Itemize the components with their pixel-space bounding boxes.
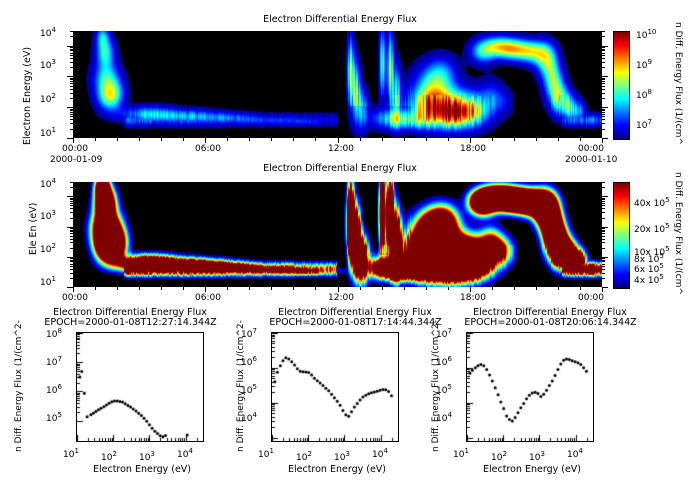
axis-tick: [205, 138, 206, 143]
sp1-ytick-7: 107: [46, 355, 62, 368]
sp1-xtick-3: 103: [139, 450, 155, 463]
axis-tick: [602, 231, 605, 232]
middle-spectrogram-plot[interactable]: [73, 182, 602, 287]
axis-tick: [602, 58, 605, 59]
top-panel-ylabel: Electron Energy (eV): [22, 47, 33, 145]
middle-colorbar-label: n Diff. Energy Flux (1/(cm^: [673, 172, 683, 295]
axis-tick: [67, 257, 73, 258]
axis-tick: [70, 50, 73, 51]
axis-tick: [602, 47, 605, 48]
axis-tick: [602, 79, 605, 80]
axis-tick: [602, 78, 605, 79]
axis-tick: [70, 49, 73, 50]
sp2-ytick-4: 104: [241, 411, 257, 424]
axis-tick: [602, 62, 605, 63]
axis-tick: [580, 138, 581, 141]
top-cbar-tick-9: 109: [636, 58, 652, 71]
axis-tick: [602, 230, 605, 231]
mid-xtick-1: 06:00: [195, 293, 221, 303]
axis-tick: [602, 89, 605, 90]
sp3-xtick-1: 101: [453, 447, 469, 460]
sp3-ytick-5: 105: [436, 383, 452, 396]
axis-tick: [514, 138, 515, 141]
middle-panel-ylabel: Ele En (eV): [28, 203, 39, 255]
axis-tick: [536, 287, 537, 290]
mid-xtick-3: 18:00: [460, 293, 486, 303]
spectrum-2-epoch: EPOCH=2000-01-08T17:14:44.344Z: [253, 317, 458, 328]
axis-tick: [602, 233, 605, 234]
axis-tick: [602, 205, 605, 206]
top-ytick-4: 104: [40, 26, 56, 39]
axis-tick: [67, 76, 73, 77]
axis-tick: [293, 138, 294, 141]
sp1-xtick-1: 101: [63, 447, 79, 460]
mid-xtick-4: 00:00: [578, 293, 604, 303]
axis-tick: [602, 261, 605, 262]
axis-tick: [70, 242, 73, 243]
mid-cbar-tick-40: 40x 105: [634, 196, 670, 209]
axis-tick: [492, 287, 493, 290]
axis-tick: [602, 112, 605, 113]
mid-cbar-tick-4: 4x 105: [634, 273, 664, 286]
axis-tick: [404, 138, 405, 141]
axis-tick: [70, 230, 73, 231]
axis-tick: [602, 239, 605, 240]
axis-tick: [602, 227, 608, 228]
axis-tick: [360, 138, 361, 141]
axis-tick: [70, 239, 73, 240]
sp2-ytick-5: 105: [241, 383, 257, 396]
axis-tick: [95, 287, 96, 290]
axis-tick: [602, 196, 608, 197]
top-cbar-tick-8: 108: [636, 88, 652, 101]
axis-tick: [602, 258, 605, 259]
axis-tick: [70, 79, 73, 80]
axis-tick: [70, 129, 73, 130]
axis-tick: [70, 36, 73, 37]
axis-tick: [602, 138, 603, 143]
axis-tick: [315, 138, 316, 141]
axis-tick: [602, 182, 605, 183]
axis-tick: [70, 203, 73, 204]
axis-tick: [602, 81, 605, 82]
axis-tick: [70, 248, 73, 249]
axis-tick: [70, 261, 73, 262]
axis-tick: [70, 269, 73, 270]
sp2-xtick-1: 101: [258, 447, 274, 460]
spectrum-3-plot[interactable]: [466, 332, 594, 442]
axis-tick: [70, 187, 73, 188]
spectrum-2-plot[interactable]: [271, 332, 399, 442]
axis-tick: [70, 78, 73, 79]
axis-tick: [602, 273, 605, 274]
mid-ytick-3: 103: [40, 209, 56, 222]
axis-tick: [602, 278, 605, 279]
axis-tick: [67, 196, 73, 197]
axis-tick: [602, 257, 608, 258]
axis-tick: [139, 138, 140, 141]
axis-tick: [602, 86, 605, 87]
axis-tick: [426, 138, 427, 141]
axis-tick: [70, 55, 73, 56]
axis-tick: [602, 212, 605, 213]
spectrum-2-xlabel: Electron Energy (eV): [257, 464, 417, 475]
axis-tick: [67, 46, 73, 47]
axis-tick: [139, 287, 140, 290]
axis-tick: [70, 89, 73, 90]
axis-tick: [70, 93, 73, 94]
axis-tick: [338, 287, 339, 292]
sp2-xtick-2: 102: [296, 450, 312, 463]
axis-tick: [70, 53, 73, 54]
axis-tick: [602, 46, 608, 47]
sp3-ytick-4: 104: [436, 411, 452, 424]
axis-tick: [602, 129, 605, 130]
top-xdate-right: 2000-01-10: [565, 155, 617, 165]
axis-tick: [183, 287, 184, 290]
sp1-ytick-5: 105: [46, 411, 62, 424]
axis-tick: [70, 123, 73, 124]
axis-tick: [70, 114, 73, 115]
top-colorbar-label: n Diff. Energy Flux (1/(cm^: [673, 22, 683, 145]
axis-tick: [70, 258, 73, 259]
axis-tick: [602, 116, 605, 117]
axis-tick: [95, 138, 96, 141]
top-xtick-4: 00:00: [578, 144, 604, 154]
sp3-xtick-3: 103: [529, 450, 545, 463]
axis-tick: [602, 107, 608, 108]
axis-tick: [602, 83, 605, 84]
axis-tick: [117, 138, 118, 141]
axis-tick: [70, 98, 73, 99]
spectrum-1-ylabel: n Diff. Energy Flux (1/(cm^2-: [14, 320, 24, 452]
axis-tick: [602, 53, 605, 54]
axis-tick: [602, 260, 605, 261]
axis-tick: [271, 138, 272, 141]
axis-tick: [602, 98, 605, 99]
axis-tick: [558, 287, 559, 290]
sp3-ytick-7: 107: [436, 327, 452, 340]
axis-tick: [70, 62, 73, 63]
axis-tick: [315, 287, 316, 290]
axis-tick: [70, 47, 73, 48]
axis-tick: [70, 266, 73, 267]
axis-tick: [70, 205, 73, 206]
axis-tick: [602, 93, 605, 94]
axis-tick: [448, 138, 449, 141]
middle-panel-title: Electron Differential Energy Flux: [150, 163, 530, 174]
axis-tick: [602, 187, 605, 188]
mid-xtick-2: 12:00: [328, 293, 354, 303]
axis-tick: [602, 123, 605, 124]
axis-tick: [602, 264, 605, 265]
axis-tick: [70, 212, 73, 213]
axis-tick: [70, 236, 73, 237]
axis-tick: [338, 138, 339, 143]
axis-tick: [70, 231, 73, 232]
spectrum-1-xlabel: Electron Energy (eV): [62, 464, 222, 475]
axis-tick: [602, 198, 605, 199]
sp3-ytick-6: 106: [436, 355, 452, 368]
sp3-xtick-4: 104: [567, 447, 583, 460]
top-xdate-left: 2000-01-09: [50, 155, 102, 165]
sp1-xtick-4: 104: [177, 447, 193, 460]
axis-tick: [70, 31, 73, 32]
axis-tick: [67, 227, 73, 228]
axis-tick: [227, 287, 228, 290]
axis-tick: [70, 110, 73, 111]
axis-tick: [602, 199, 605, 200]
mid-ytick-4: 104: [40, 177, 56, 190]
mid-ytick-2: 102: [40, 242, 56, 255]
axis-tick: [602, 287, 603, 292]
axis-tick: [70, 109, 73, 110]
axis-tick: [470, 138, 471, 143]
sp1-xtick-2: 102: [101, 450, 117, 463]
axis-tick: [70, 273, 73, 274]
axis-tick: [205, 287, 206, 292]
axis-tick: [602, 248, 605, 249]
spectrum-1-plot[interactable]: [76, 332, 204, 442]
axis-tick: [70, 83, 73, 84]
axis-tick: [580, 287, 581, 290]
axis-tick: [492, 138, 493, 141]
top-xtick-1: 06:00: [195, 144, 221, 154]
sp2-ytick-6: 106: [241, 355, 257, 368]
axis-tick: [70, 198, 73, 199]
sp2-xtick-3: 103: [334, 450, 350, 463]
axis-tick: [602, 218, 605, 219]
top-cbar-tick-7: 107: [636, 118, 652, 131]
axis-tick: [382, 287, 383, 290]
axis-tick: [558, 138, 559, 141]
axis-tick: [602, 76, 608, 77]
sp2-ytick-7: 107: [241, 327, 257, 340]
axis-tick: [161, 287, 162, 290]
axis-tick: [602, 208, 605, 209]
axis-tick: [70, 112, 73, 113]
top-ytick-1: 101: [40, 126, 56, 139]
axis-tick: [602, 114, 605, 115]
axis-tick: [70, 208, 73, 209]
top-xtick-3: 18:00: [460, 144, 486, 154]
axis-tick: [602, 203, 605, 204]
axis-tick: [602, 119, 605, 120]
mid-cbar-tick-20: 20x 105: [634, 222, 670, 235]
axis-tick: [602, 201, 605, 202]
axis-tick: [70, 260, 73, 261]
axis-tick: [271, 287, 272, 290]
sp3-xtick-2: 102: [491, 450, 507, 463]
axis-tick: [602, 269, 605, 270]
axis-tick: [70, 278, 73, 279]
axis-tick: [70, 264, 73, 265]
axis-tick: [70, 58, 73, 59]
axis-tick: [183, 138, 184, 141]
axis-tick: [70, 218, 73, 219]
top-xtick-2: 12:00: [328, 144, 354, 154]
axis-tick: [602, 31, 605, 32]
axis-tick: [514, 287, 515, 290]
axis-tick: [602, 236, 605, 237]
axis-tick: [227, 138, 228, 141]
axis-tick: [70, 67, 73, 68]
mid-xtick-0: 00:00: [62, 293, 88, 303]
top-xtick-0: 00:00: [62, 144, 88, 154]
axis-tick: [602, 109, 605, 110]
axis-tick: [70, 228, 73, 229]
sp1-ytick-6: 106: [46, 383, 62, 396]
top-panel-title: Electron Differential Energy Flux: [150, 14, 530, 25]
top-ytick-2: 102: [40, 92, 56, 105]
axis-tick: [382, 138, 383, 141]
sp2-xtick-4: 104: [372, 447, 388, 460]
sp1-ytick-8: 108: [46, 327, 62, 340]
middle-colorbar[interactable]: [613, 182, 630, 289]
axis-tick: [602, 266, 605, 267]
spectrum-3-epoch: EPOCH=2000-01-08T20:06:14.344Z: [448, 317, 653, 328]
axis-tick: [602, 67, 605, 68]
axis-tick: [602, 55, 605, 56]
axis-tick: [70, 81, 73, 82]
axis-tick: [70, 199, 73, 200]
axis-tick: [293, 287, 294, 290]
axis-tick: [426, 287, 427, 290]
axis-tick: [67, 107, 73, 108]
axis-tick: [602, 242, 605, 243]
axis-tick: [73, 138, 74, 143]
axis-tick: [448, 287, 449, 290]
axis-tick: [536, 138, 537, 141]
axis-tick: [70, 116, 73, 117]
axis-tick: [249, 138, 250, 141]
axis-tick: [602, 36, 605, 37]
axis-tick: [73, 287, 74, 292]
axis-tick: [117, 287, 118, 290]
axis-tick: [70, 201, 73, 202]
axis-tick: [404, 287, 405, 290]
axis-tick: [70, 233, 73, 234]
axis-tick: [161, 138, 162, 141]
axis-tick: [360, 287, 361, 290]
axis-tick: [70, 119, 73, 120]
spectrum-3-xlabel: Electron Energy (eV): [452, 464, 612, 475]
axis-tick: [470, 287, 471, 292]
top-spectrogram-plot[interactable]: [73, 31, 602, 138]
axis-tick: [602, 110, 605, 111]
axis-tick: [602, 228, 605, 229]
axis-tick: [70, 86, 73, 87]
axis-tick: [70, 182, 73, 183]
top-colorbar[interactable]: [613, 31, 630, 140]
top-ytick-3: 103: [40, 58, 56, 71]
axis-tick: [602, 50, 605, 51]
mid-ytick-1: 101: [40, 275, 56, 288]
axis-tick: [602, 49, 605, 50]
top-cbar-tick-10: 1010: [636, 28, 656, 41]
axis-tick: [249, 287, 250, 290]
